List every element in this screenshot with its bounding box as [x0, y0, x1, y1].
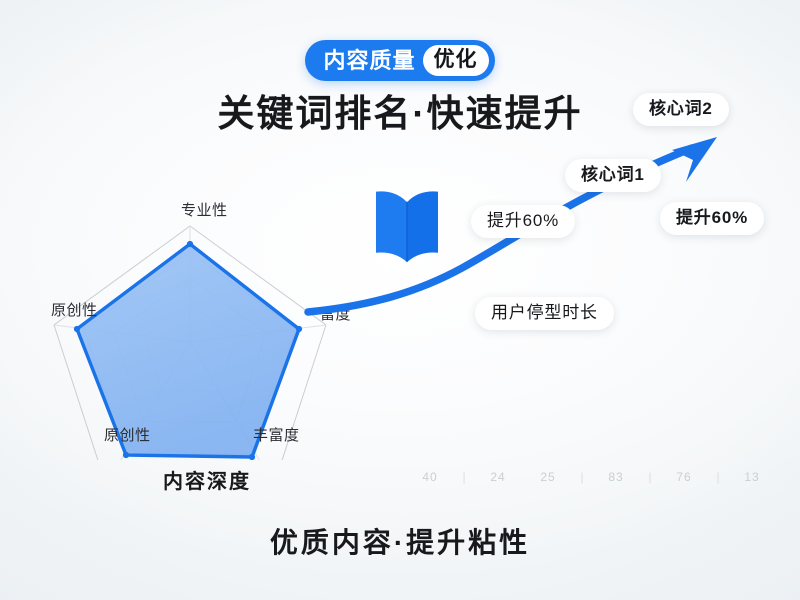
tick-separator: | — [641, 470, 659, 484]
footer-title: 优质内容·提升粘性 — [0, 521, 800, 561]
open-book-icon — [370, 186, 444, 270]
tick-value-2: 24 — [473, 470, 523, 484]
callout-keyword-1[interactable]: 核心词1 — [565, 159, 661, 192]
badge-container: 内容质量 优化 — [0, 40, 800, 81]
quality-badge: 内容质量 优化 — [305, 40, 494, 81]
poster-canvas: 内容质量 优化 关键词排名·快速提升 — [0, 0, 800, 600]
tick-value-5: 76 — [659, 470, 709, 484]
tick-separator: | — [573, 470, 591, 484]
radar-label-bottom-right: 丰富度 — [253, 424, 300, 445]
tick-value-1: 40 — [405, 470, 455, 484]
callout-keyword-2[interactable]: 核心词2 — [633, 93, 729, 126]
callout-uplift-right[interactable]: 提升60% — [660, 202, 764, 235]
tick-value-4: 83 — [591, 470, 641, 484]
radar-chart — [28, 198, 358, 460]
callout-uplift-left[interactable]: 提升60% — [471, 205, 575, 238]
tick-value-6: 13 — [727, 470, 777, 484]
tick-value-3: 25 — [523, 470, 573, 484]
radar-label-top: 专业性 — [181, 199, 228, 220]
tick-separator: | — [455, 470, 473, 484]
callout-dwell-time[interactable]: 用户停型时长 — [475, 297, 614, 330]
tick-scale: 40 | 24 25 | 83 | 76 | 13 — [405, 465, 795, 489]
radar-label-right: 富度 — [320, 303, 351, 324]
radar-label-bottom-left: 原创性 — [104, 424, 151, 445]
tick-separator: | — [709, 470, 727, 484]
radar-caption: 内容深度 — [163, 465, 251, 494]
radar-label-left: 原创性 — [51, 299, 98, 320]
badge-pill-label: 优化 — [423, 45, 489, 76]
badge-label: 内容质量 — [323, 50, 422, 72]
